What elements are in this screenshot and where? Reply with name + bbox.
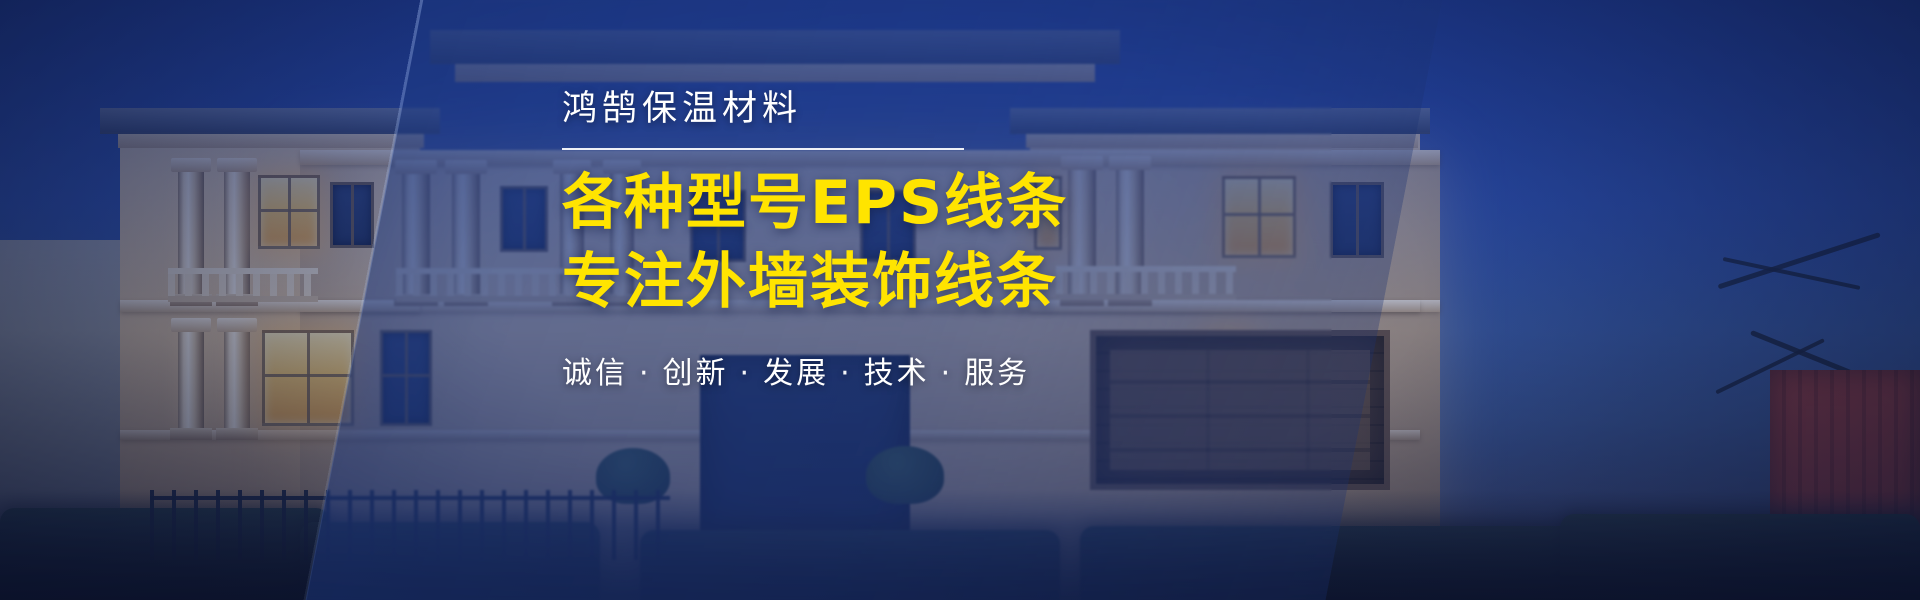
brand-name: 鸿鹄保温材料 — [562, 88, 1462, 132]
tagline-item: 服务 — [964, 356, 1030, 391]
hero-banner: 鸿鹄保温材料 各种型号EPS线条 专注外墙装饰线条 诚信·创新·发展·技术·服务 — [0, 0, 1920, 600]
tagline-item: 诚信 — [562, 356, 628, 391]
headline-line-1: 各种型号EPS线条 — [562, 164, 1462, 243]
banner-copy: 鸿鹄保温材料 各种型号EPS线条 专注外墙装饰线条 诚信·创新·发展·技术·服务 — [562, 88, 1462, 392]
tagline-item: 发展 — [763, 356, 829, 391]
tagline-separator: · — [628, 356, 663, 391]
tagline-separator: · — [930, 356, 965, 391]
tagline: 诚信·创新·发展·技术·服务 — [562, 348, 1462, 392]
headline-line-2: 专注外墙装饰线条 — [562, 243, 1462, 322]
divider-rule — [562, 148, 964, 150]
tagline-separator: · — [729, 356, 764, 391]
tagline-separator: · — [829, 356, 864, 391]
tagline-item: 创新 — [663, 356, 729, 391]
tagline-item: 技术 — [864, 356, 930, 391]
